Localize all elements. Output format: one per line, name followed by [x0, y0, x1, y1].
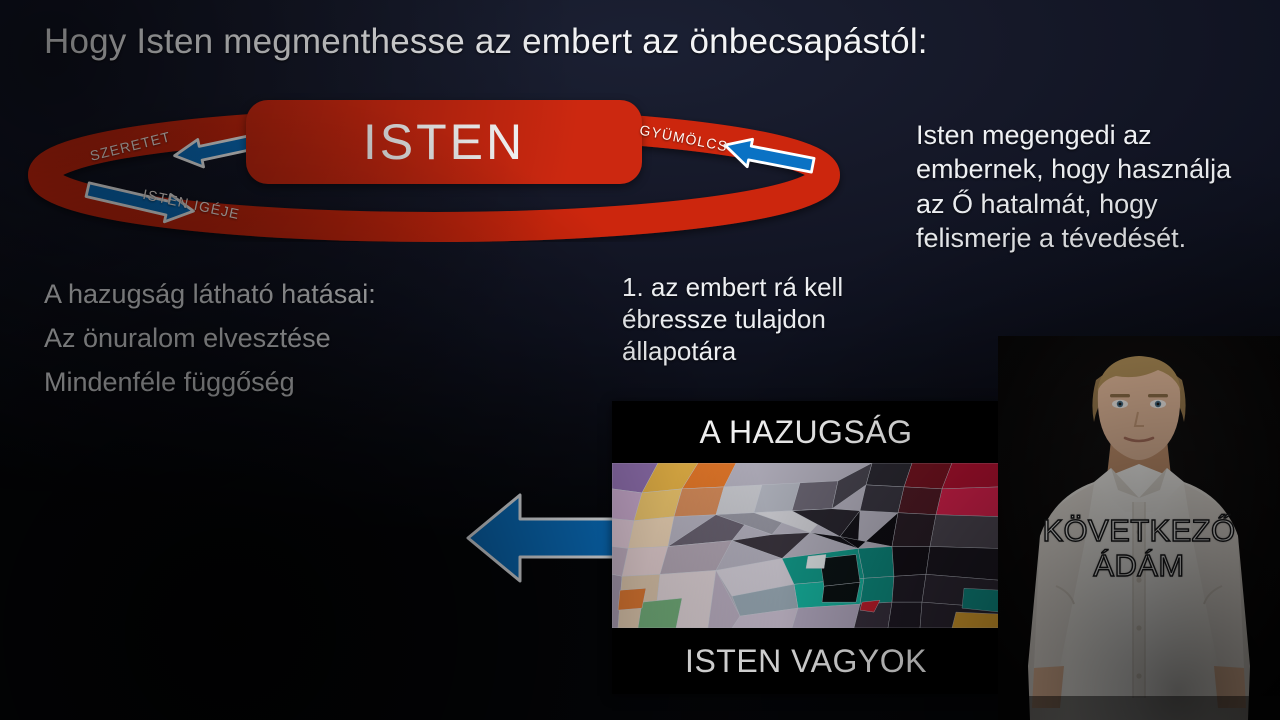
left-text-block: A hazugság látható hatásai: Az önuralom … [44, 272, 474, 404]
meme-pointer-arrow [464, 487, 636, 589]
right-paragraph: Isten megengedi az embernek, hogy haszná… [916, 118, 1246, 255]
meme-bottom-caption: ISTEN VAGYOK [612, 628, 1000, 694]
isten-center-node: ISTEN [246, 100, 642, 184]
low-poly-eye-icon [612, 463, 1000, 628]
middle-text-block: 1. az embert rá kell ébressze tulajdon á… [622, 272, 912, 368]
presentation-slide: Hogy Isten megmenthesse az embert az önb… [0, 0, 1280, 720]
left-text-line-1: A hazugság látható hatásai: [44, 272, 474, 316]
presenter-photo: KÖVETKEZŐ ÁDÁM [998, 336, 1280, 720]
presenter-portrait-icon [998, 336, 1280, 720]
page-title: Hogy Isten megmenthesse az embert az önb… [44, 22, 928, 62]
left-text-line-2: Az önuralom elvesztése [44, 316, 474, 360]
isten-center-label: ISTEN [363, 113, 525, 171]
pointer-arrow-shape [468, 495, 634, 581]
cycle-diagram: ISTEN SZERETET GYÜMÖLCS ISTEN IGÉJE [24, 92, 864, 242]
meme-card: A HAZUGSÁG [612, 401, 1000, 694]
meme-image [612, 463, 1000, 628]
left-text-line-3: Mindenféle függőség [44, 360, 474, 404]
meme-top-caption: A HAZUGSÁG [612, 401, 1000, 463]
